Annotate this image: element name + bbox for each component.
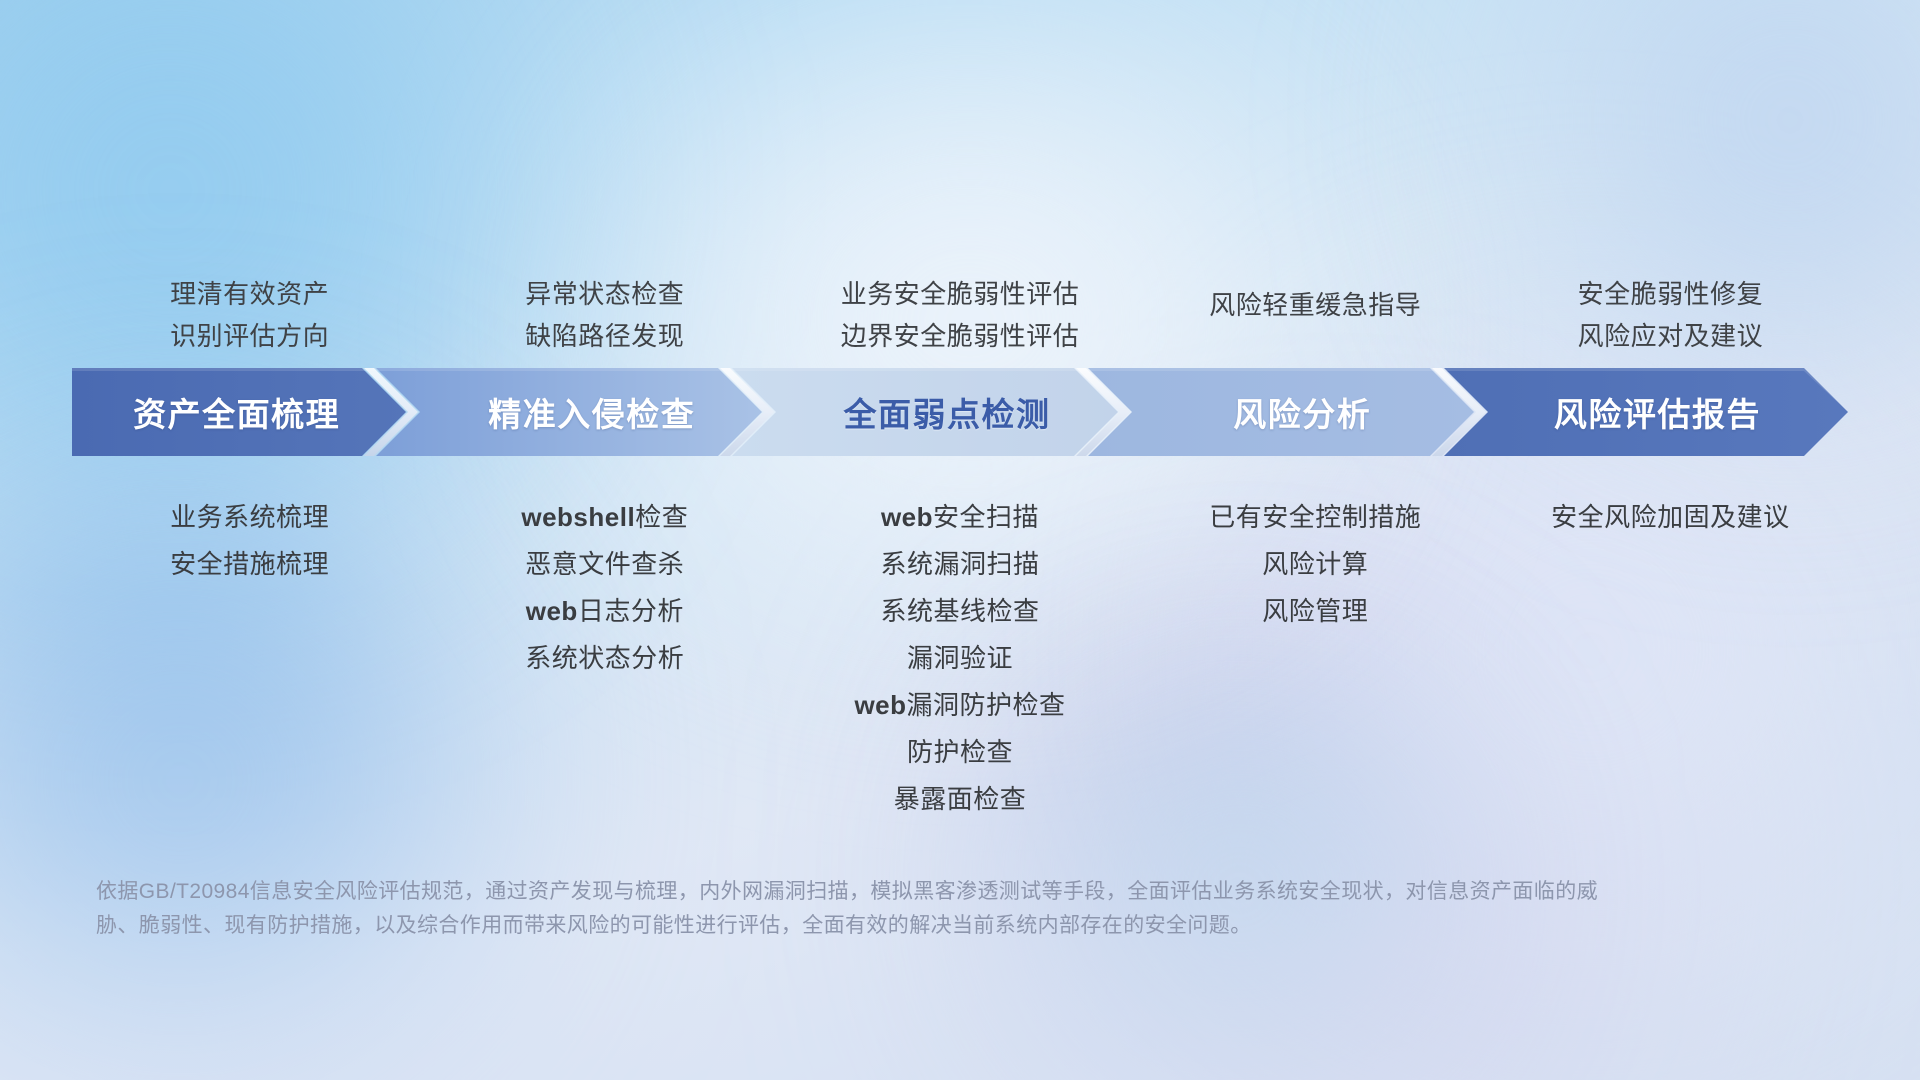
process-ribbon: 资产全面梳理 精准入侵检查 全面弱点检测 风险分析 风险评估报告 — [72, 368, 1848, 456]
bottom-note: 系统基线检查 — [880, 598, 1039, 624]
bottom-note-en: web — [854, 690, 906, 720]
bottom-note-en: web — [526, 596, 578, 626]
footer-description: 依据GB/T20984信息安全风险评估规范，通过资产发现与梳理，内外网漏洞扫描，… — [96, 875, 1616, 943]
bottom-notes-intrusion-check: webshell检查 恶意文件查杀 web日志分析 系统状态分析 — [427, 504, 782, 671]
top-notes-assessment-report: 安全脆弱性修复 风险应对及建议 — [1493, 281, 1848, 349]
bottom-note-zh: 风险计算 — [1262, 549, 1368, 579]
top-note: 缺陷路径发现 — [525, 323, 684, 349]
bottom-notes-risk-analysis: 已有安全控制措施 风险计算 风险管理 — [1138, 504, 1493, 624]
bottom-note: 安全措施梳理 — [170, 551, 329, 577]
ribbon-label-weakness-detection[interactable]: 全面弱点检测 — [782, 368, 1137, 456]
bottom-note-zh: 恶意文件查杀 — [525, 549, 684, 579]
ribbon-labels: 资产全面梳理 精准入侵检查 全面弱点检测 风险分析 风险评估报告 — [72, 368, 1848, 456]
top-notes-asset-inventory: 理清有效资产 识别评估方向 — [72, 281, 427, 349]
bottom-note-zh: 暴露面检查 — [894, 784, 1027, 814]
bottom-notes-asset-inventory: 业务系统梳理 安全措施梳理 — [72, 504, 427, 577]
bottom-note-zh: 安全风险加固及建议 — [1551, 502, 1790, 532]
bottom-note-zh: 风险管理 — [1262, 596, 1368, 626]
bottom-note: 风险计算 — [1262, 551, 1368, 577]
top-note: 边界安全脆弱性评估 — [841, 323, 1080, 349]
bottom-note-en: webshell — [521, 502, 635, 532]
top-note: 理清有效资产 — [170, 281, 329, 307]
bottom-note-zh: 日志分析 — [578, 596, 684, 626]
bottom-note-zh: 安全扫描 — [933, 502, 1039, 532]
bottom-note-en: web — [881, 502, 933, 532]
top-note: 异常状态检查 — [525, 281, 684, 307]
bottom-note-zh: 已有安全控制措施 — [1209, 502, 1421, 532]
bottom-note: web日志分析 — [526, 598, 684, 624]
top-notes-weakness-detection: 业务安全脆弱性评估 边界安全脆弱性评估 — [782, 281, 1137, 349]
bottom-note: 系统状态分析 — [525, 645, 684, 671]
top-note: 识别评估方向 — [170, 323, 329, 349]
bottom-note-zh: 系统状态分析 — [525, 643, 684, 673]
top-notes-risk-analysis: 风险轻重缓急指导 — [1138, 292, 1493, 349]
bottom-note-zh: 检查 — [635, 502, 688, 532]
ribbon-label-risk-analysis[interactable]: 风险分析 — [1138, 368, 1493, 456]
bottom-note: 防护检查 — [907, 739, 1013, 765]
ribbon-label-intrusion-check[interactable]: 精准入侵检查 — [427, 368, 782, 456]
top-note: 业务安全脆弱性评估 — [841, 281, 1080, 307]
bottom-note-zh: 系统漏洞扫描 — [880, 549, 1039, 579]
ribbon-label-assessment-report[interactable]: 风险评估报告 — [1493, 368, 1848, 456]
top-notes-intrusion-check: 异常状态检查 缺陷路径发现 — [427, 281, 782, 349]
bottom-note: 系统漏洞扫描 — [880, 551, 1039, 577]
bottom-note-zh: 漏洞验证 — [907, 643, 1013, 673]
top-note: 安全脆弱性修复 — [1578, 281, 1764, 307]
bottom-note: 风险管理 — [1262, 598, 1368, 624]
bottom-note-zh: 安全措施梳理 — [170, 549, 329, 579]
bottom-note-zh: 漏洞防护检查 — [907, 690, 1066, 720]
bottom-notes-weakness-detection: web安全扫描 系统漏洞扫描 系统基线检查 漏洞验证 web漏洞防护检查 防护检… — [782, 504, 1137, 812]
bottom-note-zh: 系统基线检查 — [880, 596, 1039, 626]
bottom-note: 业务系统梳理 — [170, 504, 329, 530]
bottom-note: web安全扫描 — [881, 504, 1039, 530]
slide-canvas: 理清有效资产 识别评估方向 业务系统梳理 安全措施梳理 异常状态检查 缺陷路径发… — [0, 0, 1920, 1080]
bottom-note: 安全风险加固及建议 — [1551, 504, 1790, 530]
bottom-note: 恶意文件查杀 — [525, 551, 684, 577]
bottom-note: 暴露面检查 — [894, 786, 1027, 812]
bottom-note: webshell检查 — [521, 504, 688, 530]
top-note: 风险应对及建议 — [1578, 323, 1764, 349]
bottom-note-zh: 业务系统梳理 — [170, 502, 329, 532]
bottom-notes-assessment-report: 安全风险加固及建议 — [1493, 504, 1848, 530]
bottom-note: web漏洞防护检查 — [854, 692, 1065, 718]
ribbon-label-asset-inventory[interactable]: 资产全面梳理 — [72, 368, 427, 456]
top-note: 风险轻重缓急指导 — [1209, 292, 1421, 318]
bottom-note: 已有安全控制措施 — [1209, 504, 1421, 530]
bottom-note-zh: 防护检查 — [907, 737, 1013, 767]
bottom-note: 漏洞验证 — [907, 645, 1013, 671]
